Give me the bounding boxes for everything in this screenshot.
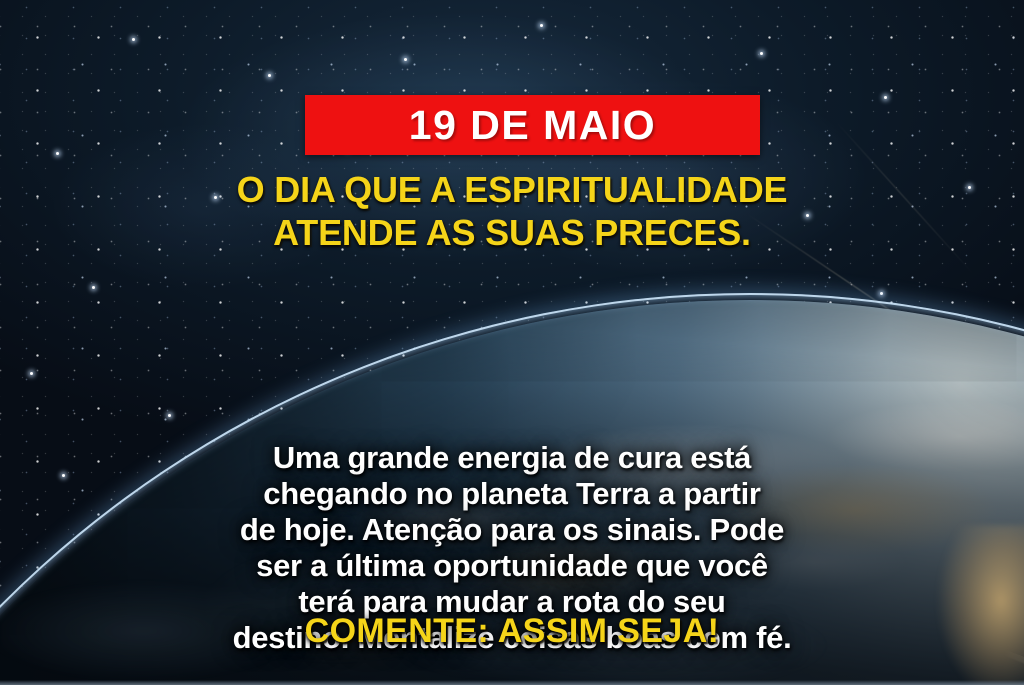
body-copy-line-3: de hoje. Atenção para os sinais. Pode	[36, 512, 988, 548]
poster-content: 19 DE MAIO O DIA QUE A ESPIRITUALIDADE A…	[0, 0, 1024, 685]
headline: O DIA QUE A ESPIRITUALIDADE ATENDE AS SU…	[0, 168, 1024, 254]
poster-canvas: 19 DE MAIO O DIA QUE A ESPIRITUALIDADE A…	[0, 0, 1024, 685]
call-to-action-text: COMENTE: ASSIM SEJA!	[0, 614, 1024, 648]
body-copy-line-2: chegando no planeta Terra a partir	[36, 476, 988, 512]
headline-line-2: ATENDE AS SUAS PRECES.	[0, 211, 1024, 254]
body-copy-line-4: ser a última oportunidade que você	[36, 548, 988, 584]
body-copy-line-1: Uma grande energia de cura está	[36, 440, 988, 476]
headline-line-1: O DIA QUE A ESPIRITUALIDADE	[0, 168, 1024, 211]
date-banner: 19 DE MAIO	[305, 95, 760, 155]
date-banner-label: 19 DE MAIO	[409, 105, 656, 146]
